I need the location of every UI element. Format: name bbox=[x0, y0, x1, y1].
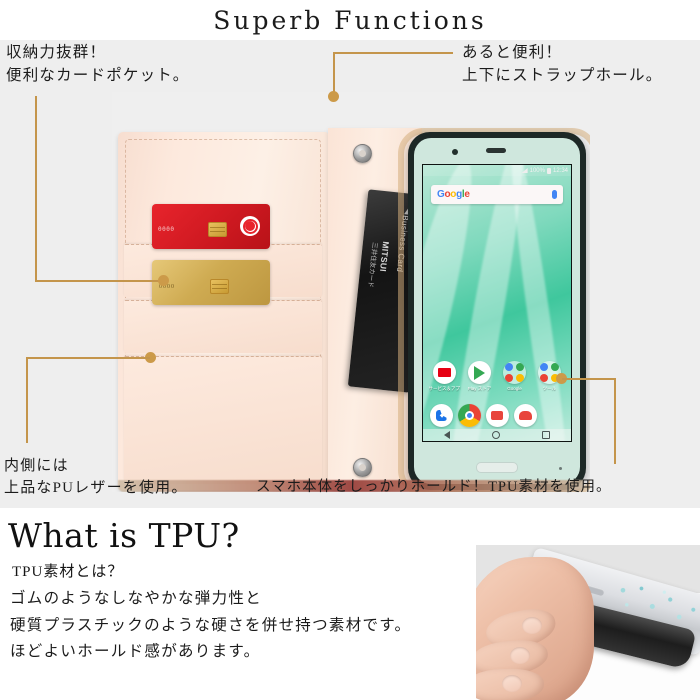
callout-line: あると便利！ bbox=[462, 42, 662, 65]
leader-line-tpu-hold-h bbox=[562, 378, 616, 380]
google-logo-icon: Google bbox=[437, 189, 470, 200]
clock-label: 12:34 bbox=[553, 168, 568, 174]
product-photo: 0000 0000 Business Card MITSUI 三井住 bbox=[112, 92, 590, 492]
gold-card-chip-icon bbox=[210, 279, 229, 294]
leader-line-card-pocket-h bbox=[35, 280, 165, 282]
battery-icon bbox=[547, 168, 551, 174]
tpu-heading: What is TPU? bbox=[8, 516, 240, 555]
message-icon bbox=[486, 404, 509, 427]
app-label: Google bbox=[507, 386, 522, 391]
app-message[interactable] bbox=[483, 404, 511, 427]
red-card-chip-icon bbox=[208, 222, 227, 237]
front-camera-icon bbox=[452, 149, 458, 155]
home-icon[interactable] bbox=[492, 431, 500, 439]
earpiece-icon bbox=[486, 148, 506, 153]
signal-icon bbox=[522, 168, 528, 173]
phone-statusbar: 100% 12:34 bbox=[423, 165, 571, 176]
leader-dot-card-pocket bbox=[158, 275, 169, 286]
fingernail bbox=[502, 675, 522, 692]
google-folder-icon bbox=[503, 361, 526, 384]
fingernail bbox=[522, 617, 542, 634]
page-title-bar: Superb Functions bbox=[0, 0, 700, 40]
infographic-page: Superb Functions 0000 0000 bbox=[0, 0, 700, 700]
phone-screen: 100% 12:34 Google サービス＆アプリ bbox=[422, 164, 572, 442]
back-icon[interactable] bbox=[444, 431, 450, 439]
app-label: ツール bbox=[543, 386, 557, 392]
microphone-icon[interactable] bbox=[552, 190, 557, 199]
app-dock bbox=[427, 404, 567, 427]
strap-hole-bottom-icon bbox=[353, 458, 372, 477]
hand bbox=[476, 557, 594, 700]
tpu-section: What is TPU? TPU素材とは？ ゴムのようなしなやかな弾力性と 硬質… bbox=[0, 508, 700, 700]
app-label: サービス＆アプリ bbox=[429, 386, 461, 392]
card-pocket-2 bbox=[124, 300, 322, 353]
phone-icon bbox=[430, 404, 453, 427]
callout-tpu-hold: スマホ本体をしっかりホールド！TPU素材を使用。 bbox=[256, 477, 611, 498]
google-search-bar[interactable]: Google bbox=[431, 185, 563, 204]
leader-dot-strap-hole bbox=[328, 91, 339, 102]
app-row-primary: サービス＆アプリ Play ストア Google bbox=[427, 361, 567, 392]
feature-band: 0000 0000 Business Card MITSUI 三井住 bbox=[0, 40, 700, 508]
callout-strap-hole: あると便利！ 上下にストラップホール。 bbox=[462, 42, 662, 88]
android-navbar bbox=[423, 429, 571, 441]
app-chrome[interactable] bbox=[455, 404, 483, 427]
leader-line-card-pocket-v bbox=[35, 96, 37, 281]
tpu-subheading: TPU素材とは？ bbox=[12, 560, 123, 581]
gold-credit-card: 0000 bbox=[152, 260, 270, 305]
tpu-body-line: 硬質プラスチックのような硬さを併せ持つ素材です。 bbox=[10, 613, 411, 640]
leader-line-strap-hole-v bbox=[333, 52, 335, 96]
app-play-store[interactable]: Play ストア bbox=[465, 361, 495, 392]
play-store-icon bbox=[468, 361, 491, 384]
leader-line-pu-leather-v bbox=[26, 357, 28, 443]
callout-card-pocket: 収納力抜群！ 便利なカードポケット。 bbox=[6, 42, 189, 88]
callout-line: 便利なカードポケット。 bbox=[6, 65, 189, 88]
smartphone: 100% 12:34 Google サービス＆アプリ bbox=[408, 132, 586, 490]
leader-line-strap-hole-h bbox=[333, 52, 453, 54]
tpu-body-line: ほどよいホールド感があります。 bbox=[10, 639, 411, 666]
app-google-folder[interactable]: Google bbox=[500, 361, 530, 391]
callout-pu-leather: 内側には 上品なPUレザーを使用。 bbox=[4, 455, 188, 499]
battery-percent-label: 100% bbox=[530, 168, 545, 174]
callout-line: 上下にストラップホール。 bbox=[462, 65, 662, 88]
tpu-body-text: ゴムのようなしなやかな弾力性と 硬質プラスチックのような硬さを併せ持つ素材です。… bbox=[10, 586, 411, 666]
app-camera[interactable] bbox=[539, 404, 567, 427]
callout-line: 内側には bbox=[4, 455, 188, 477]
app-label: Play ストア bbox=[468, 386, 492, 392]
wallet-left-flap: 0000 0000 bbox=[118, 132, 328, 490]
chrome-icon bbox=[458, 404, 481, 427]
strap-hole-top-icon bbox=[353, 144, 372, 163]
callout-line: 上品なPUレザーを使用。 bbox=[4, 477, 188, 499]
red-credit-card: 0000 bbox=[152, 204, 270, 249]
tpu-body-line: ゴムのようなしなやかな弾力性と bbox=[10, 586, 411, 613]
phone-body: 100% 12:34 Google サービス＆アプリ bbox=[414, 138, 580, 484]
tpu-flex-photo bbox=[476, 545, 700, 700]
app-mail[interactable] bbox=[511, 404, 539, 427]
home-button[interactable] bbox=[476, 462, 518, 473]
page-title: Superb Functions bbox=[213, 6, 487, 35]
bullseye-logo-icon bbox=[240, 216, 260, 236]
callout-line: 収納力抜群！ bbox=[6, 42, 189, 65]
recents-icon[interactable] bbox=[542, 431, 550, 439]
docomo-icon bbox=[433, 361, 456, 384]
app-phone[interactable] bbox=[427, 404, 455, 427]
app-docomo[interactable]: サービス＆アプリ bbox=[430, 361, 460, 392]
mail-icon bbox=[514, 404, 537, 427]
sensor-dot-icon bbox=[559, 467, 562, 470]
leader-line-pu-leather-h bbox=[26, 357, 150, 359]
callout-line: スマホ本体をしっかりホールド！TPU素材を使用。 bbox=[256, 477, 611, 498]
leader-line-tpu-hold-v bbox=[614, 378, 616, 464]
red-card-embossed-number: 0000 bbox=[158, 226, 174, 233]
fingernail bbox=[510, 647, 530, 664]
